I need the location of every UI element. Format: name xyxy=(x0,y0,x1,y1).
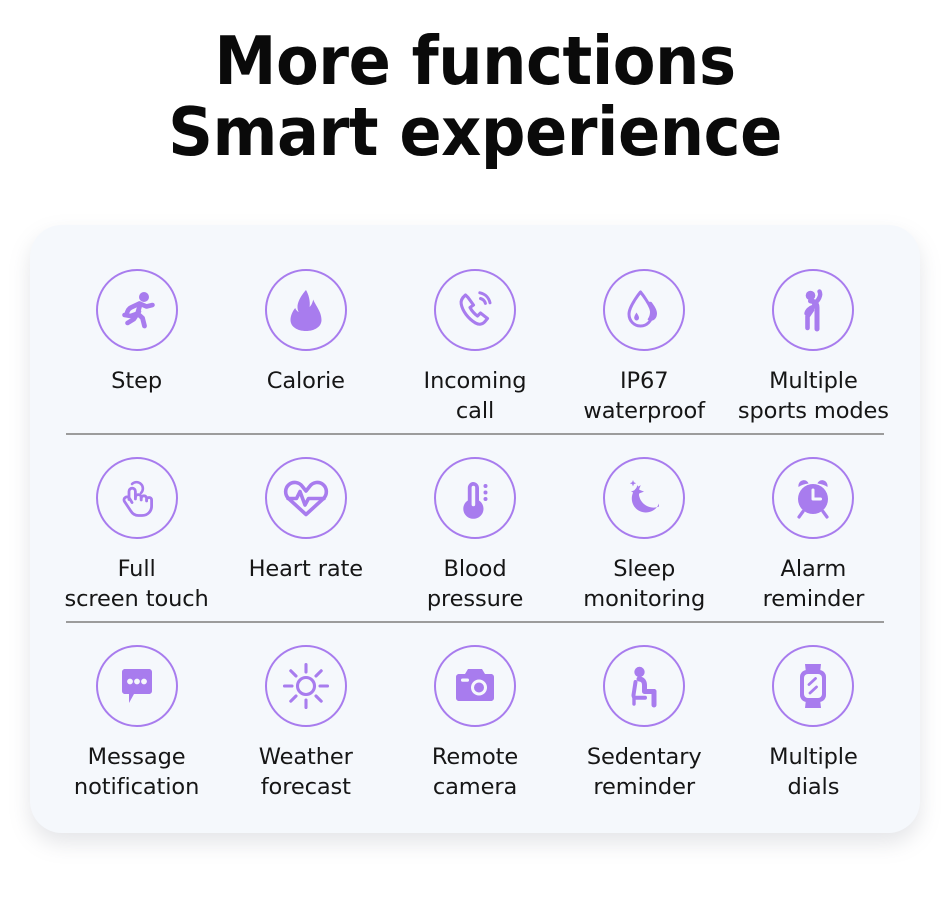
stretching-person-icon xyxy=(772,269,854,351)
feature-label: Remote camera xyxy=(432,743,518,802)
feature-incoming-call[interactable]: Incoming call xyxy=(390,247,559,426)
headline-line-2: Smart experience xyxy=(33,97,917,168)
feature-label: Incoming call xyxy=(424,367,527,426)
features-card: Step Calorie xyxy=(30,225,920,833)
feature-row-1: Step Calorie xyxy=(52,247,898,433)
feature-step[interactable]: Step xyxy=(52,247,221,397)
feature-label: Message notification xyxy=(74,743,199,802)
speech-bubble-icon xyxy=(96,645,178,727)
smartwatch-icon xyxy=(772,645,854,727)
feature-label: Sedentary reminder xyxy=(587,743,702,802)
feature-label: Calorie xyxy=(267,367,345,397)
feature-calorie[interactable]: Calorie xyxy=(221,247,390,397)
touch-hand-icon xyxy=(96,457,178,539)
page-title: More functions Smart experience xyxy=(0,0,950,168)
water-drop-icon xyxy=(603,269,685,351)
headline-line-1: More functions xyxy=(33,26,917,97)
alarm-clock-icon xyxy=(772,457,854,539)
feature-label: Alarm reminder xyxy=(763,555,865,614)
feature-sedentary-reminder[interactable]: Sedentary reminder xyxy=(560,623,729,802)
phone-ringing-icon xyxy=(434,269,516,351)
feature-label: Step xyxy=(111,367,162,397)
feature-label: Full screen touch xyxy=(64,555,208,614)
feature-label: Heart rate xyxy=(249,555,363,585)
feature-full-screen-touch[interactable]: Full screen touch xyxy=(52,435,221,614)
feature-label: Multiple sports modes xyxy=(738,367,889,426)
feature-row-2: Full screen touch Heart rate xyxy=(52,435,898,621)
feature-sports-modes[interactable]: Multiple sports modes xyxy=(729,247,898,426)
feature-remote-camera[interactable]: Remote camera xyxy=(390,623,559,802)
feature-label: Multiple dials xyxy=(769,743,858,802)
running-person-icon xyxy=(96,269,178,351)
feature-row-3: Message notification xyxy=(52,623,898,809)
sun-icon xyxy=(265,645,347,727)
feature-heart-rate[interactable]: Heart rate xyxy=(221,435,390,585)
flame-icon xyxy=(265,269,347,351)
feature-waterproof[interactable]: IP67 waterproof xyxy=(560,247,729,426)
thermometer-icon xyxy=(434,457,516,539)
feature-label: Weather forecast xyxy=(259,743,353,802)
feature-blood-pressure[interactable]: Blood pressure xyxy=(390,435,559,614)
feature-infographic-page: More functions Smart experience Step xyxy=(0,0,950,906)
camera-icon xyxy=(434,645,516,727)
feature-sleep-monitoring[interactable]: Sleep monitoring xyxy=(560,435,729,614)
feature-label: IP67 waterproof xyxy=(583,367,705,426)
feature-weather-forecast[interactable]: Weather forecast xyxy=(221,623,390,802)
moon-stars-icon xyxy=(603,457,685,539)
feature-alarm-reminder[interactable]: Alarm reminder xyxy=(729,435,898,614)
feature-message-notification[interactable]: Message notification xyxy=(52,623,221,802)
heart-pulse-icon xyxy=(265,457,347,539)
feature-label: Blood pressure xyxy=(427,555,523,614)
feature-multiple-dials[interactable]: Multiple dials xyxy=(729,623,898,802)
seated-person-icon xyxy=(603,645,685,727)
feature-label: Sleep monitoring xyxy=(583,555,705,614)
